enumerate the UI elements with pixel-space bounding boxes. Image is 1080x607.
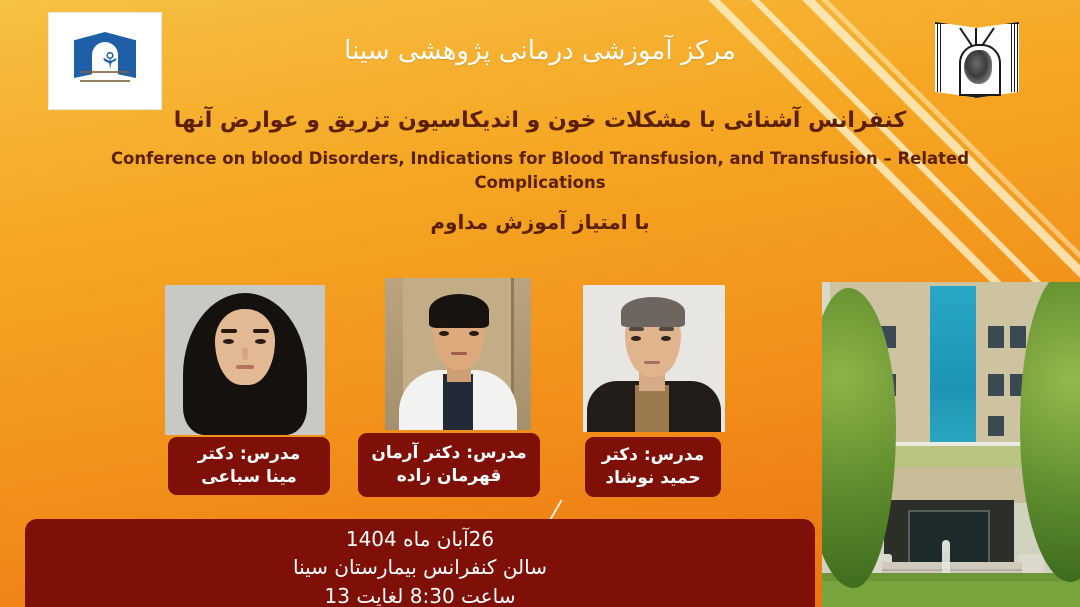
- mouth: [644, 361, 660, 364]
- window: [1010, 326, 1026, 348]
- eye-right: [469, 331, 479, 336]
- event-venue: سالن کنفرانس بیمارستان سینا: [25, 553, 815, 581]
- sina-hospital-building-photo: [822, 282, 1080, 607]
- eyebrow-right: [659, 327, 674, 331]
- nose: [242, 347, 248, 360]
- window: [988, 374, 1004, 396]
- glass-tower: [930, 286, 976, 454]
- eyebrow-right: [467, 322, 482, 326]
- eye-left: [223, 339, 234, 344]
- speaker-name-box-1: مدرس: دکتر مینا سباعی: [168, 437, 330, 495]
- event-date: 26آبان ماه 1404: [25, 525, 815, 553]
- speaker-photo-1: [165, 285, 325, 435]
- cme-credit-note: با امتیاز آموزش مداوم: [0, 210, 1080, 234]
- conference-title-fa: کنفرانس آشنائی با مشکلات خون و اندیکاسیو…: [0, 108, 1080, 133]
- speaker-photo-3: [583, 285, 725, 432]
- speaker-name-line-1: مدرس: دکتر: [602, 444, 704, 467]
- event-details-box: 26آبان ماه 1404 سالن کنفرانس بیمارستان س…: [25, 519, 815, 607]
- eyebrow-left: [437, 322, 452, 326]
- eyebrow-right: [253, 329, 269, 333]
- eye-left: [631, 336, 641, 341]
- eye-left: [439, 331, 449, 336]
- hair-shape: [621, 297, 685, 327]
- eye-right: [661, 336, 671, 341]
- window: [988, 416, 1004, 436]
- eyebrow-left: [221, 329, 237, 333]
- mouth: [451, 352, 467, 355]
- speaker-name-box-2: مدرس: دکتر آرمان قهرمان زاده: [358, 433, 540, 497]
- window: [988, 326, 1004, 348]
- page-title: مرکز آموزشی درمانی پژوهشی سینا: [0, 36, 1080, 66]
- eye-right: [255, 339, 266, 344]
- speaker-name-line-2: قهرمان زاده: [397, 465, 502, 488]
- conference-title-en: Conference on blood Disorders, Indicatio…: [108, 147, 972, 195]
- speaker-name-line-2: مینا سباعی: [201, 466, 297, 489]
- mouth: [236, 365, 254, 369]
- speaker-name-line-2: حمید نوشاد: [605, 467, 700, 490]
- shirt: [635, 385, 669, 432]
- speaker-photo-2: [385, 278, 531, 430]
- eyebrow-left: [629, 327, 644, 331]
- conference-poster: ⚘ مرکز آموزشی درمانی پژوهشی سینا کنفرانس…: [0, 0, 1080, 607]
- entrance-canopy: [878, 442, 1028, 470]
- speaker-name-box-3: مدرس: دکتر حمید نوشاد: [585, 437, 721, 497]
- emblem-persian-script: [80, 68, 130, 88]
- speaker-name-line-1: مدرس: دکتر آرمان: [371, 442, 526, 465]
- speaker-name-line-1: مدرس: دکتر: [198, 443, 300, 466]
- shirt: [443, 374, 473, 430]
- event-time: ساعت 8:30 لغایت 13: [25, 582, 815, 607]
